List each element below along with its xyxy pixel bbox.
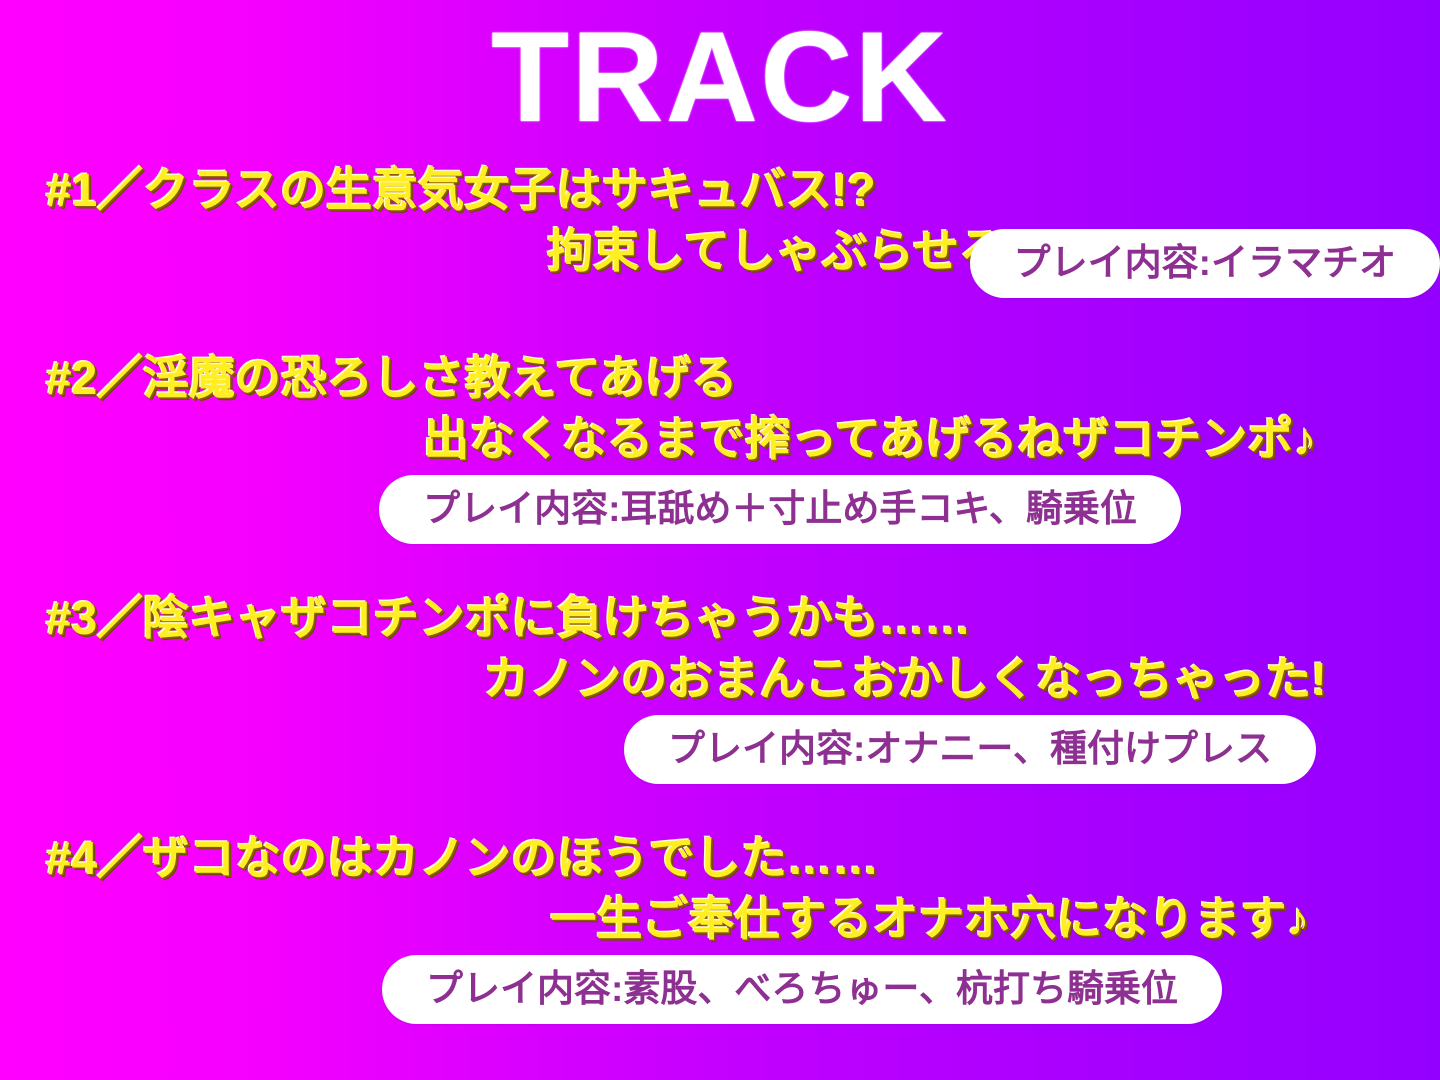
track-2-badge-row: プレイ内容:耳舐め＋寸止め手コキ、騎乗位 (0, 475, 1440, 544)
track-4-line-1: #4／ザコなのはカノンのほうでした…… (46, 828, 1394, 889)
track-1-play-content-badge: プレイ内容:イラマチオ (970, 229, 1440, 298)
track-3-badge-row: プレイ内容:オナニー、種付けプレス (0, 715, 1440, 784)
track-4-line-2: 一生ご奉仕するオナホ穴になります♪ (46, 889, 1394, 950)
track-entry-1: #1／クラスの生意気女子はサキュバス!? 拘束してしゃぶらせる! プレイ内容:イ… (0, 160, 1440, 298)
track-entry-4: #4／ザコなのはカノンのほうでした…… 一生ご奉仕するオナホ穴になります♪ プレ… (0, 828, 1440, 1024)
track-3-lines: #3／陰キャザコチンポに負けちゃうかも…… カノンのおまんこおかしくなっちゃった… (0, 588, 1440, 709)
track-2-lines: #2／淫魔の恐ろしさ教えてあげる 出なくなるまで搾ってあげるねザコチンポ♪ (0, 348, 1440, 469)
track-entry-3: #3／陰キャザコチンポに負けちゃうかも…… カノンのおまんこおかしくなっちゃった… (0, 588, 1440, 784)
page-title: TRACK (0, 14, 1440, 142)
track-4-lines: #4／ザコなのはカノンのほうでした…… 一生ご奉仕するオナホ穴になります♪ (0, 828, 1440, 949)
track-entry-2: #2／淫魔の恐ろしさ教えてあげる 出なくなるまで搾ってあげるねザコチンポ♪ プレ… (0, 348, 1440, 544)
track-list-poster: TRACK #1／クラスの生意気女子はサキュバス!? 拘束してしゃぶらせる! プ… (0, 0, 1440, 1080)
track-1-line-1: #1／クラスの生意気女子はサキュバス!? (46, 160, 1394, 221)
track-3-play-content-badge: プレイ内容:オナニー、種付けプレス (624, 715, 1316, 784)
track-3-line-2: カノンのおまんこおかしくなっちゃった! (46, 649, 1394, 710)
track-2-line-2: 出なくなるまで搾ってあげるねザコチンポ♪ (46, 409, 1394, 470)
track-2-line-1: #2／淫魔の恐ろしさ教えてあげる (46, 348, 1394, 409)
track-3-line-1: #3／陰キャザコチンポに負けちゃうかも…… (46, 588, 1394, 649)
track-4-badge-row: プレイ内容:素股、べろちゅー、杭打ち騎乗位 (0, 955, 1440, 1024)
track-2-play-content-badge: プレイ内容:耳舐め＋寸止め手コキ、騎乗位 (379, 475, 1181, 544)
track-4-play-content-badge: プレイ内容:素股、べろちゅー、杭打ち騎乗位 (382, 955, 1222, 1024)
